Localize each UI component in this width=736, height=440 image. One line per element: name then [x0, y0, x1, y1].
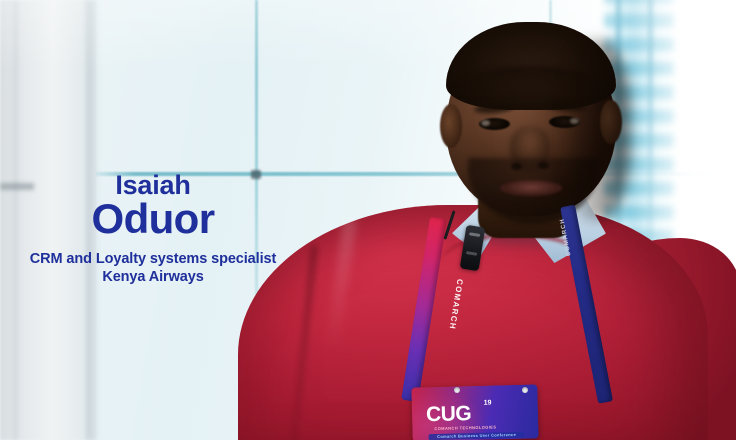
mouth: [500, 180, 562, 196]
badge-logo-superscript: 19: [484, 400, 492, 407]
eye-highlight-left: [481, 120, 490, 126]
badge-eyelets: [412, 384, 538, 394]
lower-third-overlay: Isaiah Oduor CRM and Loyalty systems spe…: [8, 172, 298, 287]
badge-subtitle-2: Comarch Business User Conference: [429, 432, 525, 440]
speaker-organization: Kenya Airways: [8, 269, 298, 287]
speaker-role: CRM and Loyalty systems specialist: [8, 251, 298, 269]
ear-left: [440, 104, 462, 148]
face-shadow: [560, 40, 630, 220]
badge-subtitle-1: COMARCH TECHNOLOGIES: [434, 424, 496, 431]
badge-eyelet-left: [454, 387, 460, 393]
badge-eyelet-right: [522, 387, 528, 393]
badge-logo-text: CUG: [426, 402, 472, 427]
video-frame: COMARCH COMARCH CUG 19 COMARCH TECHNOLOG…: [0, 0, 736, 440]
speaker-last-name: Oduor: [8, 198, 298, 241]
